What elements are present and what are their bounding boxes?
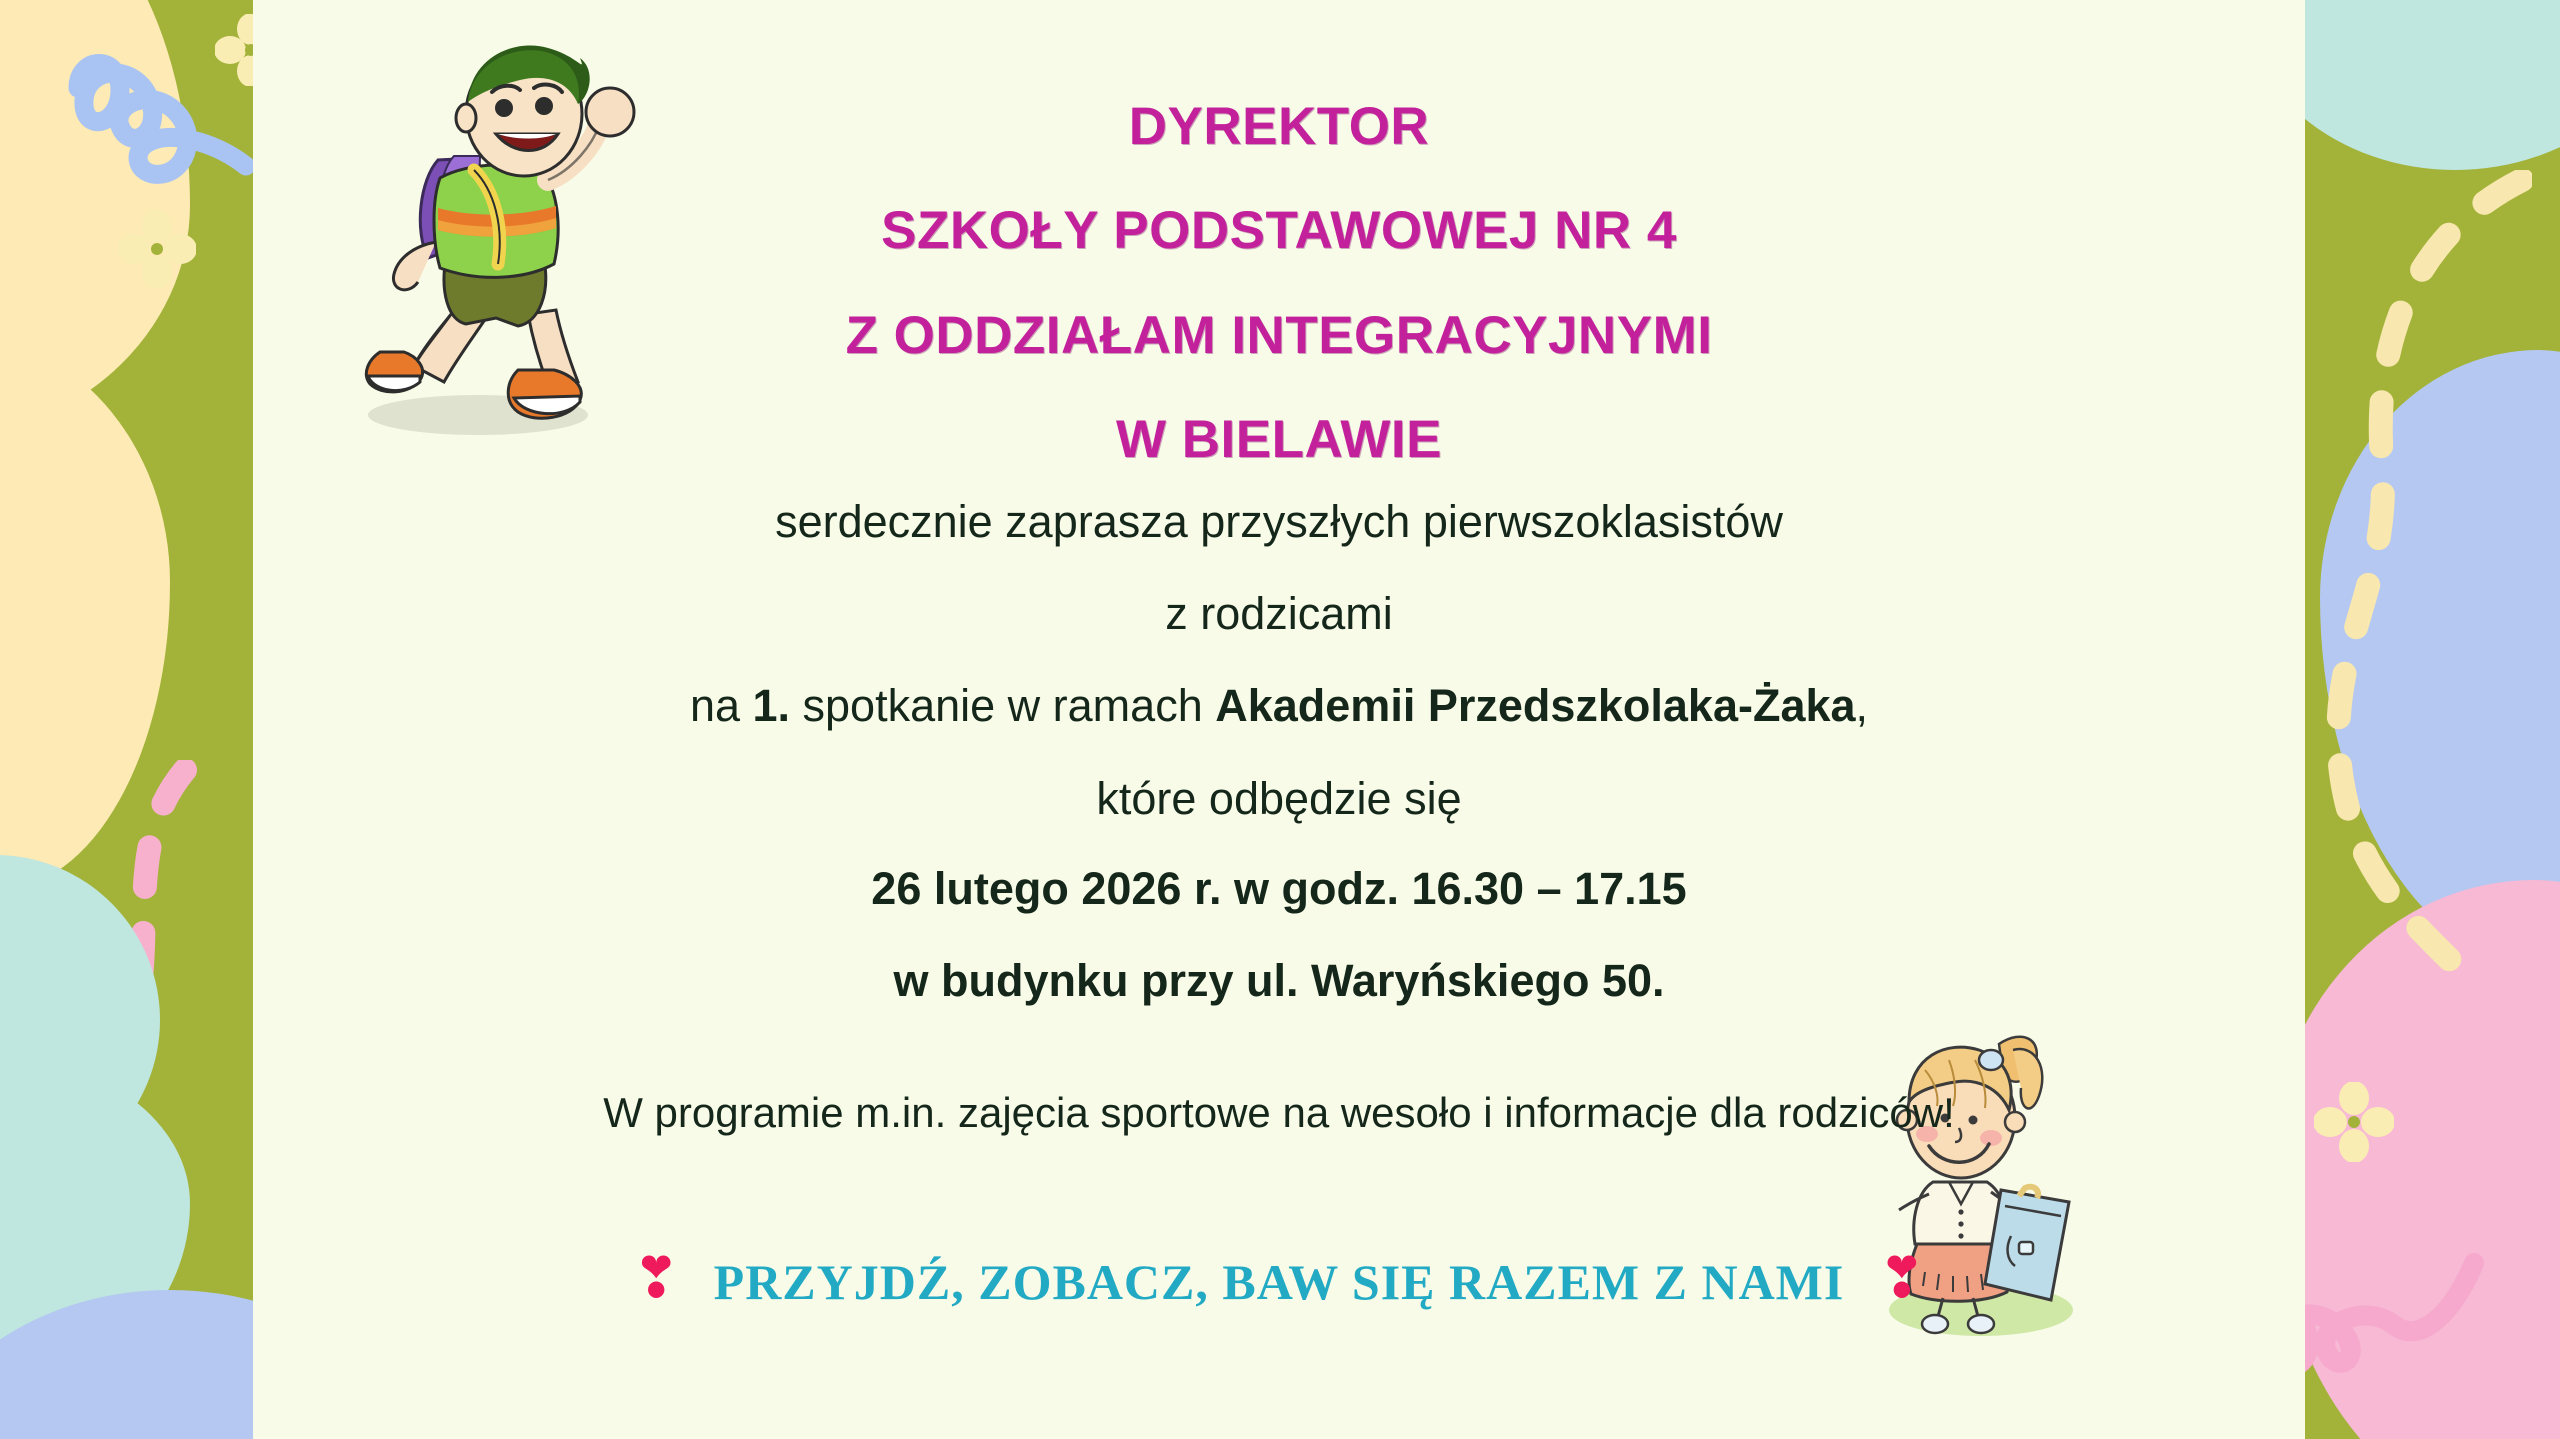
heading-line-1: DYREKTOR xyxy=(253,100,2305,153)
heading-line-3: Z ODDZIAŁAM INTEGRACYJNYMI xyxy=(253,309,2305,362)
blob-pink-bottom-right xyxy=(2270,880,2560,1439)
blob-left-cream xyxy=(0,330,170,890)
blob-teal-left-lower xyxy=(0,1055,190,1385)
poster-content-card: DYREKTOR SZKOŁY PODSTAWOWEJ NR 4 Z ODDZI… xyxy=(253,0,2305,1439)
dashed-curve-cream xyxy=(2272,170,2532,990)
flower-cream-icon xyxy=(2314,1082,2394,1167)
heading-line-2: SZKOŁY PODSTAWOWEJ NR 4 xyxy=(253,204,2305,257)
heart-icon-right: ❣ xyxy=(1878,1250,1925,1306)
meeting-suffix: , xyxy=(1856,680,1869,731)
dashed-curve-pink xyxy=(0,760,200,1400)
meeting-prefix: na xyxy=(690,680,753,731)
body-line-program: W programie m.in. zajęcia sportowe na we… xyxy=(253,1091,2305,1135)
blob-top-left-cream xyxy=(0,0,190,440)
body-line-invite: serdecznie zaprasza przyszłych pierwszok… xyxy=(253,498,2305,545)
meeting-mid: spotkanie w ramach xyxy=(790,680,1215,731)
meeting-number: 1. xyxy=(753,680,791,731)
heart-icon-left: ❣ xyxy=(633,1250,680,1306)
body-line-address: w budynku przy ul. Waryńskiego 50. xyxy=(253,957,2305,1004)
flower-cream-icon xyxy=(118,210,196,293)
body-line-datetime: 26 lutego 2026 r. w godz. 16.30 – 17.15 xyxy=(253,865,2305,912)
tagline-text: PRZYJDŹ, ZOBACZ, BAW SIĘ RAZEM Z NAMI xyxy=(714,1253,1845,1311)
body-line-which: które odbędzie się xyxy=(253,775,2305,822)
body-line-meeting: na 1. spotkanie w ramach Akademii Przeds… xyxy=(253,682,2305,729)
poster-text-block: DYREKTOR SZKOŁY PODSTAWOWEJ NR 4 Z ODDZI… xyxy=(253,0,2305,1439)
body-line-parents: z rodzicami xyxy=(253,590,2305,637)
poster-root: DYREKTOR SZKOŁY PODSTAWOWEJ NR 4 Z ODDZI… xyxy=(0,0,2560,1439)
heading-line-4: W BIELAWIE xyxy=(253,413,2305,466)
blob-blue-right xyxy=(2320,350,2560,970)
swirl-blue-icon xyxy=(58,48,258,213)
academy-name: Akademii Przedszkolaka-Żaka xyxy=(1215,680,1855,731)
blob-teal-left xyxy=(0,855,160,1185)
tagline: ❣ PRZYJDŹ, ZOBACZ, BAW SIĘ RAZEM Z NAMI … xyxy=(253,1253,2305,1311)
